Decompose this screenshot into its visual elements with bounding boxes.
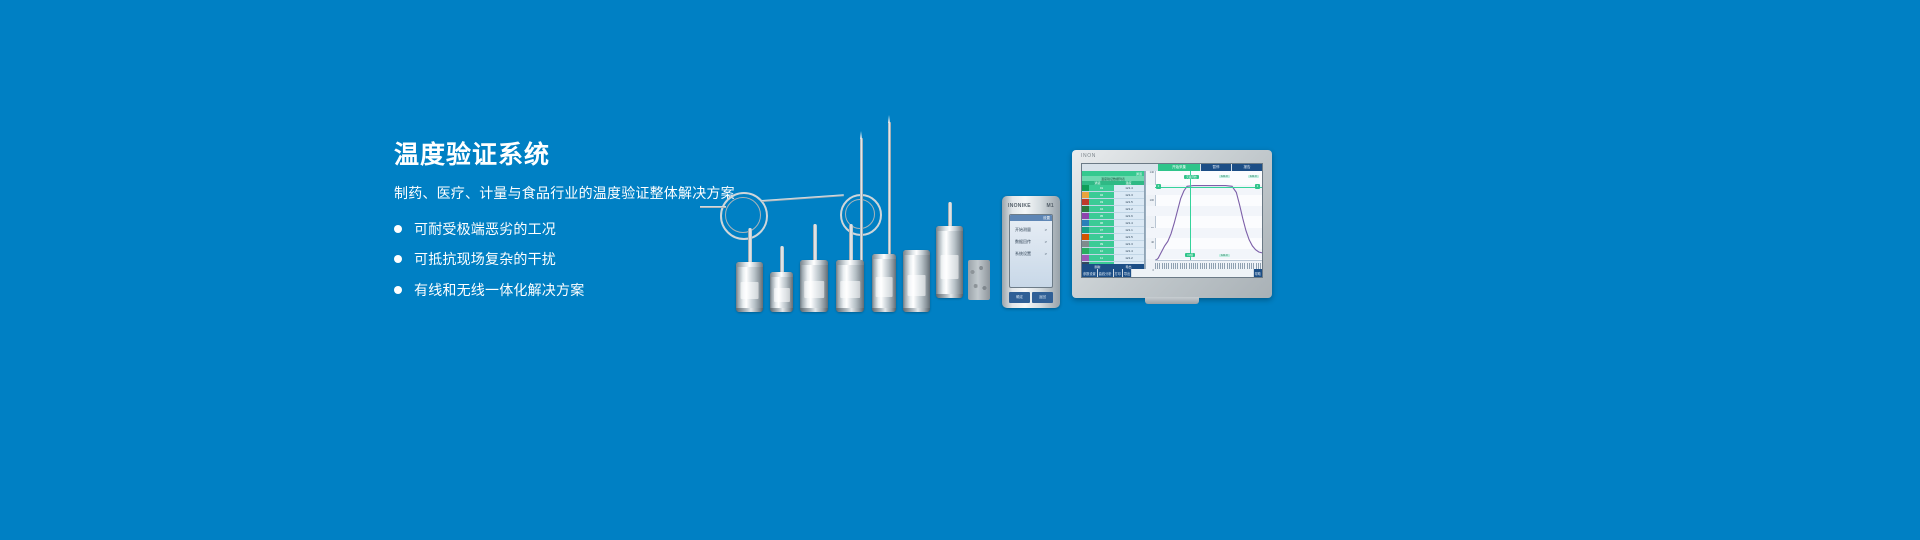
logger-label <box>907 275 926 296</box>
handheld-brandbar: INONIKE M1 <box>1008 201 1054 210</box>
data-logger-4 <box>836 260 864 312</box>
logger-base <box>936 294 963 298</box>
table-row: 09121.3 <box>1082 241 1144 248</box>
logger-cap <box>800 260 828 265</box>
cell-channel: 02 <box>1089 192 1114 198</box>
statusbar-settings-button: 参数设置 <box>1082 269 1097 277</box>
table-row: 10121.4 <box>1082 248 1144 255</box>
coiled-cable-large-inner-icon <box>725 197 761 233</box>
handheld-menu-row: 开始测量 > <box>1010 227 1052 233</box>
table-row: 02121.3 <box>1082 192 1144 199</box>
channel-data-table: 通道 温度验证数据列表 通道 温度 01121.402121.303121.50… <box>1082 171 1145 269</box>
logger-label <box>740 282 759 299</box>
logger-base <box>770 308 793 312</box>
cell-temperature: 121.4 <box>1114 185 1144 191</box>
cell-channel: 05 <box>1089 213 1114 219</box>
table-row: 01121.4 <box>1082 185 1144 192</box>
logger-label <box>940 255 959 279</box>
software-toolbar: 开始采集 暂停 报告 <box>1082 164 1262 171</box>
cell-channel: 07 <box>1089 227 1114 233</box>
chart-setpoint-marker-left: 0 <box>1156 184 1161 189</box>
logger-cap <box>770 272 793 277</box>
handheld-menu-chevron-icon: > <box>1045 239 1047 245</box>
logger-label <box>876 277 893 297</box>
logger-cap <box>736 262 763 267</box>
table-row: 03121.5 <box>1082 199 1144 206</box>
logger-base <box>903 308 930 312</box>
handheld-screen: 设置 开始测量 > 数据回传 > 系统设置 > <box>1009 214 1053 288</box>
needle-probe-tall <box>860 138 863 278</box>
handheld-menu-chevron-icon: > <box>1045 251 1047 257</box>
logger-stem <box>948 202 952 228</box>
logger-cap <box>903 250 930 255</box>
software-screen: 开始采集 暂停 报告 通道 温度验证数据列表 通道 温度 01121.40212… <box>1081 163 1263 278</box>
y-axis-tick: 100 <box>1150 199 1154 202</box>
handheld-key-confirm: 确定 <box>1009 292 1030 303</box>
channel-color-swatch <box>1082 185 1089 191</box>
table-row: 11121.2 <box>1082 255 1144 262</box>
cable-lead <box>700 206 726 208</box>
chart-annotation-pale-2: 121.0 <box>1248 175 1259 178</box>
logger-base <box>836 308 864 312</box>
cell-channel: 11 <box>1089 255 1114 261</box>
handheld-titlebar: 设置 <box>1010 215 1052 221</box>
y-axis-tick: 40 <box>1151 241 1154 244</box>
cell-channel: 10 <box>1089 248 1114 254</box>
data-logger-3 <box>800 260 828 312</box>
logger-base <box>872 308 896 312</box>
logger-stem <box>748 228 752 264</box>
channel-color-swatch <box>1082 213 1089 219</box>
porous-filter-block <box>968 260 990 300</box>
table-rows: 01121.402121.303121.504121.205121.606121… <box>1082 185 1144 264</box>
table-row: 06121.4 <box>1082 220 1144 227</box>
data-logger-6 <box>903 250 930 312</box>
table-row: 08121.5 <box>1082 234 1144 241</box>
monitor-stand <box>1145 297 1199 304</box>
cell-temperature: 121.4 <box>1114 248 1144 254</box>
cell-channel: 01 <box>1089 185 1114 191</box>
table-refresh-button: 刷新 <box>1094 265 1100 269</box>
handheld-menu-row: 系统设置 > <box>1010 251 1052 257</box>
handheld-menu-row: 数据回传 > <box>1010 239 1052 245</box>
channel-color-swatch <box>1082 220 1089 226</box>
data-logger-1 <box>736 262 763 312</box>
cell-temperature: 121.3 <box>1114 192 1144 198</box>
logger-label <box>804 281 824 299</box>
cell-channel: 03 <box>1089 199 1114 205</box>
chart-setpoint-reference-line <box>1155 187 1262 188</box>
handheld-key-back: 返回 <box>1032 292 1053 303</box>
toolbar-start-acquisition-button: 开始采集 <box>1158 164 1200 171</box>
product-photo-group: INONIKE M1 设置 开始测量 > 数据回传 > 系统设置 > <box>700 120 1220 310</box>
logger-base <box>800 308 828 312</box>
handheld-brand: INONIKE <box>1008 203 1031 209</box>
logger-label <box>840 281 860 299</box>
handheld-model: M1 <box>1046 203 1054 209</box>
cell-temperature: 121.5 <box>1114 234 1144 240</box>
handheld-keypad: 确定 返回 <box>1009 292 1053 303</box>
software-body: 通道 温度验证数据列表 通道 温度 01121.402121.303121.50… <box>1082 171 1262 269</box>
bullet-dot-icon <box>394 225 402 233</box>
cell-channel: 04 <box>1089 206 1114 212</box>
cable-lead <box>762 194 844 202</box>
handheld-menu-label: 数据回传 <box>1015 239 1031 245</box>
cell-channel: 06 <box>1089 220 1114 226</box>
channel-color-swatch <box>1082 192 1089 198</box>
chart-x-axis <box>1155 260 1262 269</box>
logger-stem <box>813 224 817 262</box>
cell-temperature: 121.2 <box>1114 255 1144 261</box>
cell-temperature: 121.4 <box>1114 220 1144 226</box>
table-export-button: 导出 <box>1125 265 1131 269</box>
handheld-menu-chevron-icon: > <box>1045 227 1047 233</box>
temperature-curve-chart: 020406080100120140 0 0 灭菌开始 F0值 <box>1145 171 1262 269</box>
cell-channel: 09 <box>1089 241 1114 247</box>
logger-stem <box>780 246 784 274</box>
monitor-display: INON 开始采集 暂停 报告 通道 温度验证数据列表 通道 温度 <box>1072 150 1272 298</box>
channel-color-swatch <box>1082 199 1089 205</box>
logger-cap <box>836 260 864 265</box>
chart-annotation-pale-1: 121.0 <box>1219 175 1230 178</box>
toolbar-pause-button: 暂停 <box>1201 164 1231 171</box>
feature-bullet-label: 可耐受极端恶劣的工况 <box>414 220 556 238</box>
logger-stem <box>849 224 853 262</box>
toolbar-spacer <box>1082 164 1157 171</box>
handheld-titlebar-label: 设置 <box>1043 216 1050 221</box>
chart-setpoint-marker-right: 0 <box>1255 184 1260 189</box>
chart-annotation-pale-3: 121.0 <box>1219 254 1230 257</box>
statusbar-print-button: 打印 <box>1114 269 1122 277</box>
chart-event-reference-line <box>1190 171 1191 261</box>
table-row: 05121.6 <box>1082 213 1144 220</box>
cell-temperature: 121.2 <box>1114 206 1144 212</box>
temperature-curve-line <box>1155 186 1262 262</box>
cell-temperature: 121.5 <box>1114 199 1144 205</box>
data-logger-2 <box>770 272 793 312</box>
feature-bullet-label: 可抵抗现场复杂的干扰 <box>414 250 556 268</box>
logger-base <box>736 308 763 312</box>
channel-color-swatch <box>1082 255 1089 261</box>
statusbar-export-button: 导出 <box>1123 269 1131 277</box>
chart-annotation-bottom: F0值 <box>1185 253 1195 257</box>
logger-cap <box>872 254 896 259</box>
channel-color-swatch <box>1082 248 1089 254</box>
statusbar-curve-analysis-button: 曲线分析 <box>1098 269 1113 277</box>
bullet-dot-icon <box>394 286 402 294</box>
table-row: 07121.1 <box>1082 227 1144 234</box>
cell-channel: 08 <box>1089 234 1114 240</box>
y-axis-tick: 140 <box>1150 171 1154 174</box>
cell-temperature: 121.1 <box>1114 227 1144 233</box>
toolbar-report-button: 报告 <box>1232 164 1262 171</box>
data-logger-7 <box>936 226 963 298</box>
feature-bullet-label: 有线和无线一体化解决方案 <box>414 281 584 299</box>
bullet-dot-icon <box>394 255 402 263</box>
logger-label <box>773 288 789 302</box>
logger-cap <box>936 226 963 231</box>
hero-banner: 温度验证系统 制药、医疗、计量与食品行业的温度验证整体解决方案 可耐受极端恶劣的… <box>0 0 1920 540</box>
cell-temperature: 121.3 <box>1114 241 1144 247</box>
data-logger-5 <box>872 254 896 312</box>
table-row: 04121.2 <box>1082 206 1144 213</box>
handheld-reader-device: INONIKE M1 设置 开始测量 > 数据回传 > 系统设置 > <box>1002 196 1060 308</box>
cell-temperature: 121.6 <box>1114 213 1144 219</box>
channel-color-swatch <box>1082 227 1089 233</box>
handheld-menu-label: 开始测量 <box>1015 227 1031 233</box>
y-axis-tick: 0 <box>1153 269 1154 272</box>
channel-color-swatch <box>1082 206 1089 212</box>
channel-color-swatch <box>1082 234 1089 240</box>
channel-color-swatch <box>1082 241 1089 247</box>
chart-annotation-top: 灭菌开始 <box>1184 175 1198 179</box>
x-axis-tick <box>1260 263 1262 269</box>
monitor-brand: INON <box>1081 153 1096 159</box>
handheld-menu-label: 系统设置 <box>1015 251 1031 257</box>
